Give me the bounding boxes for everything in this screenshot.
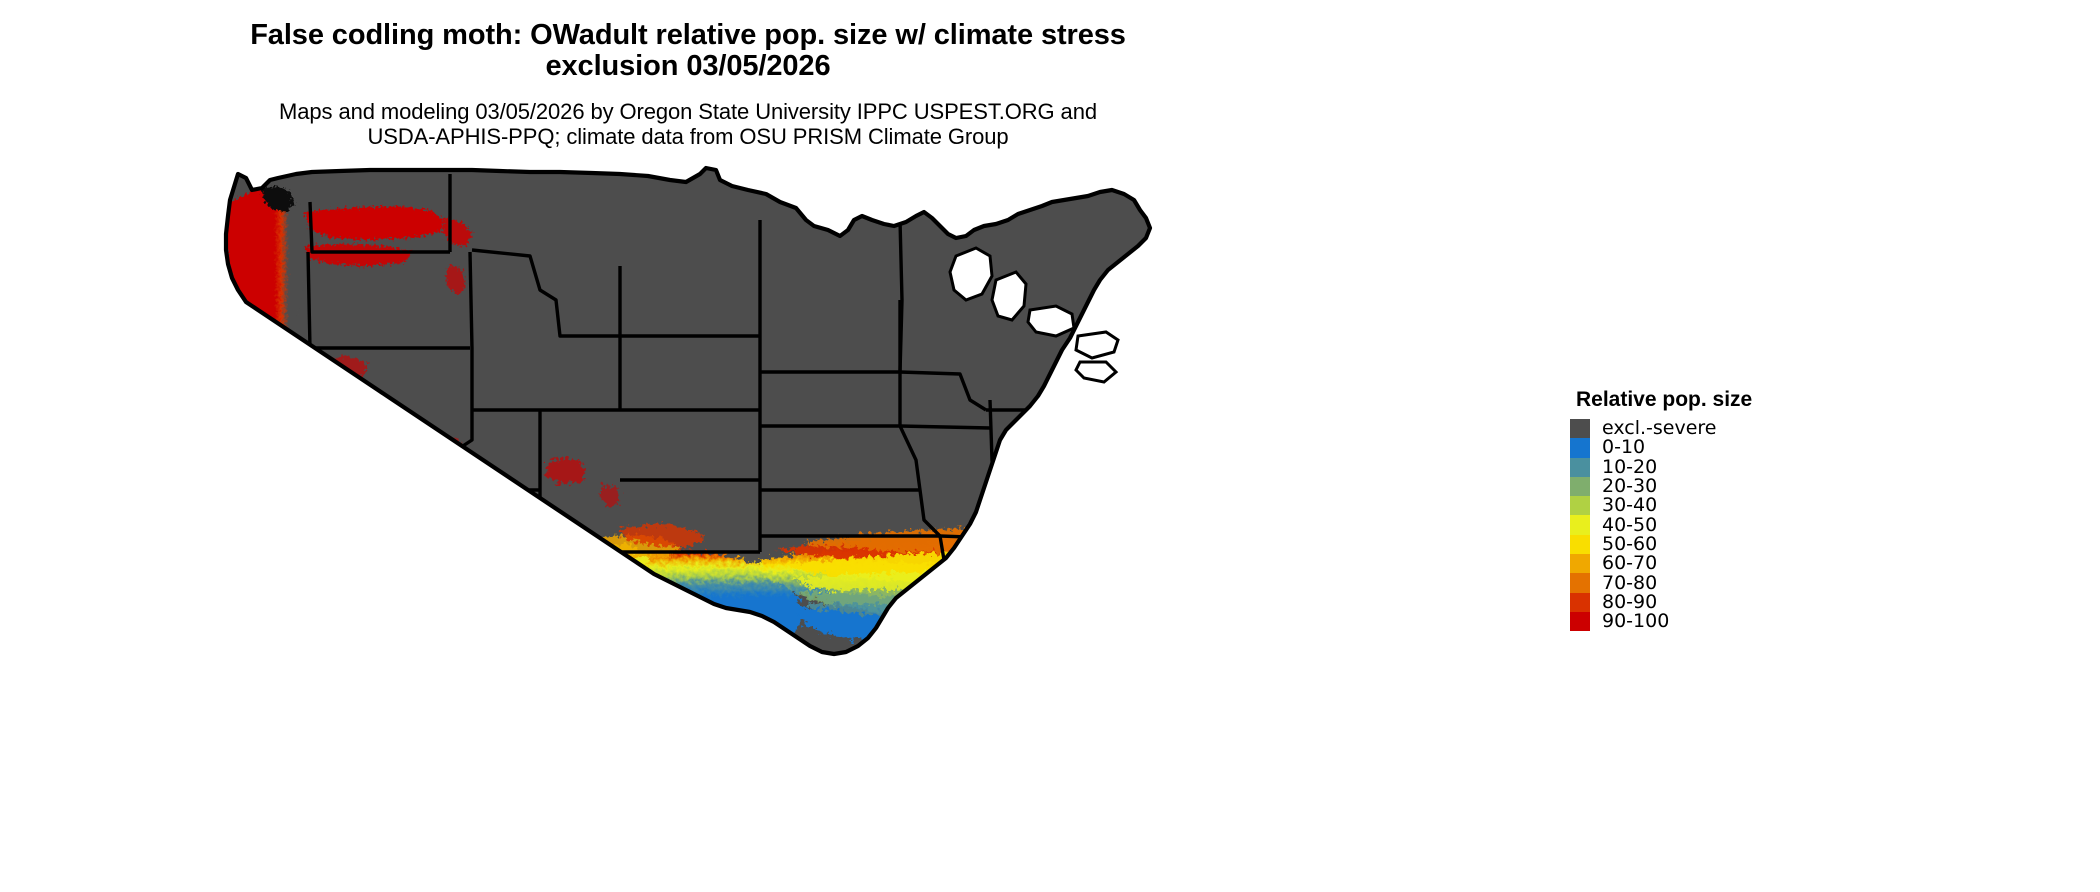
legend-title: Relative pop. size <box>1576 388 1752 412</box>
legend-item-label: 70-80 <box>1602 574 1657 593</box>
legend-color-swatch <box>1570 593 1590 612</box>
legend-color-swatch <box>1570 496 1590 515</box>
legend-item-label: 50-60 <box>1602 535 1657 554</box>
legend-color-swatch <box>1570 419 1590 438</box>
legend-color-swatch <box>1570 554 1590 573</box>
page-subtitle-line1: Maps and modeling 03/05/2026 by Oregon S… <box>279 99 1097 124</box>
us-risk-map <box>200 160 1180 660</box>
legend-item[interactable]: 80-90 <box>1570 593 1752 612</box>
page-title-line1: False codling moth: OWadult relative pop… <box>250 19 1126 51</box>
legend-item-label: 20-30 <box>1602 477 1657 496</box>
legend-item[interactable]: 30-40 <box>1570 496 1752 515</box>
legend-color-swatch <box>1570 515 1590 534</box>
legend-color-swatch <box>1570 458 1590 477</box>
legend-item[interactable]: 40-50 <box>1570 515 1752 534</box>
map-svg <box>200 160 1180 660</box>
page-title: False codling moth: OWadult relative pop… <box>0 0 1376 83</box>
legend-color-swatch <box>1570 438 1590 457</box>
legend-item[interactable]: 50-60 <box>1570 535 1752 554</box>
legend-item-label: 90-100 <box>1602 612 1669 631</box>
legend-item[interactable]: 0-10 <box>1570 438 1752 457</box>
page-title-line2: exclusion 03/05/2026 <box>546 50 831 82</box>
legend-color-swatch <box>1570 573 1590 592</box>
legend-color-swatch <box>1570 535 1590 554</box>
legend-item-label: excl.-severe <box>1602 419 1717 438</box>
title-block: False codling moth: OWadult relative pop… <box>0 0 1376 149</box>
legend-color-swatch <box>1570 612 1590 631</box>
legend-item-label: 0-10 <box>1602 438 1645 457</box>
page-subtitle-line2: USDA-APHIS-PPQ; climate data from OSU PR… <box>367 124 1008 149</box>
legend: Relative pop. size excl.-severe0-1010-20… <box>1570 388 1752 631</box>
legend-item[interactable]: excl.-severe <box>1570 419 1752 438</box>
legend-item-label: 60-70 <box>1602 554 1657 573</box>
legend-item-label: 30-40 <box>1602 496 1657 515</box>
legend-item[interactable]: 60-70 <box>1570 554 1752 573</box>
legend-item-label: 80-90 <box>1602 593 1657 612</box>
legend-item-label: 40-50 <box>1602 516 1657 535</box>
legend-item-label: 10-20 <box>1602 458 1657 477</box>
legend-item[interactable]: 10-20 <box>1570 458 1752 477</box>
legend-rows: excl.-severe0-1010-2020-3030-4040-5050-6… <box>1570 419 1752 631</box>
legend-item[interactable]: 70-80 <box>1570 573 1752 592</box>
map-page: False codling moth: OWadult relative pop… <box>0 0 2100 892</box>
legend-item[interactable]: 90-100 <box>1570 612 1752 631</box>
page-subtitle: Maps and modeling 03/05/2026 by Oregon S… <box>0 83 1376 150</box>
legend-color-swatch <box>1570 477 1590 496</box>
legend-item[interactable]: 20-30 <box>1570 477 1752 496</box>
